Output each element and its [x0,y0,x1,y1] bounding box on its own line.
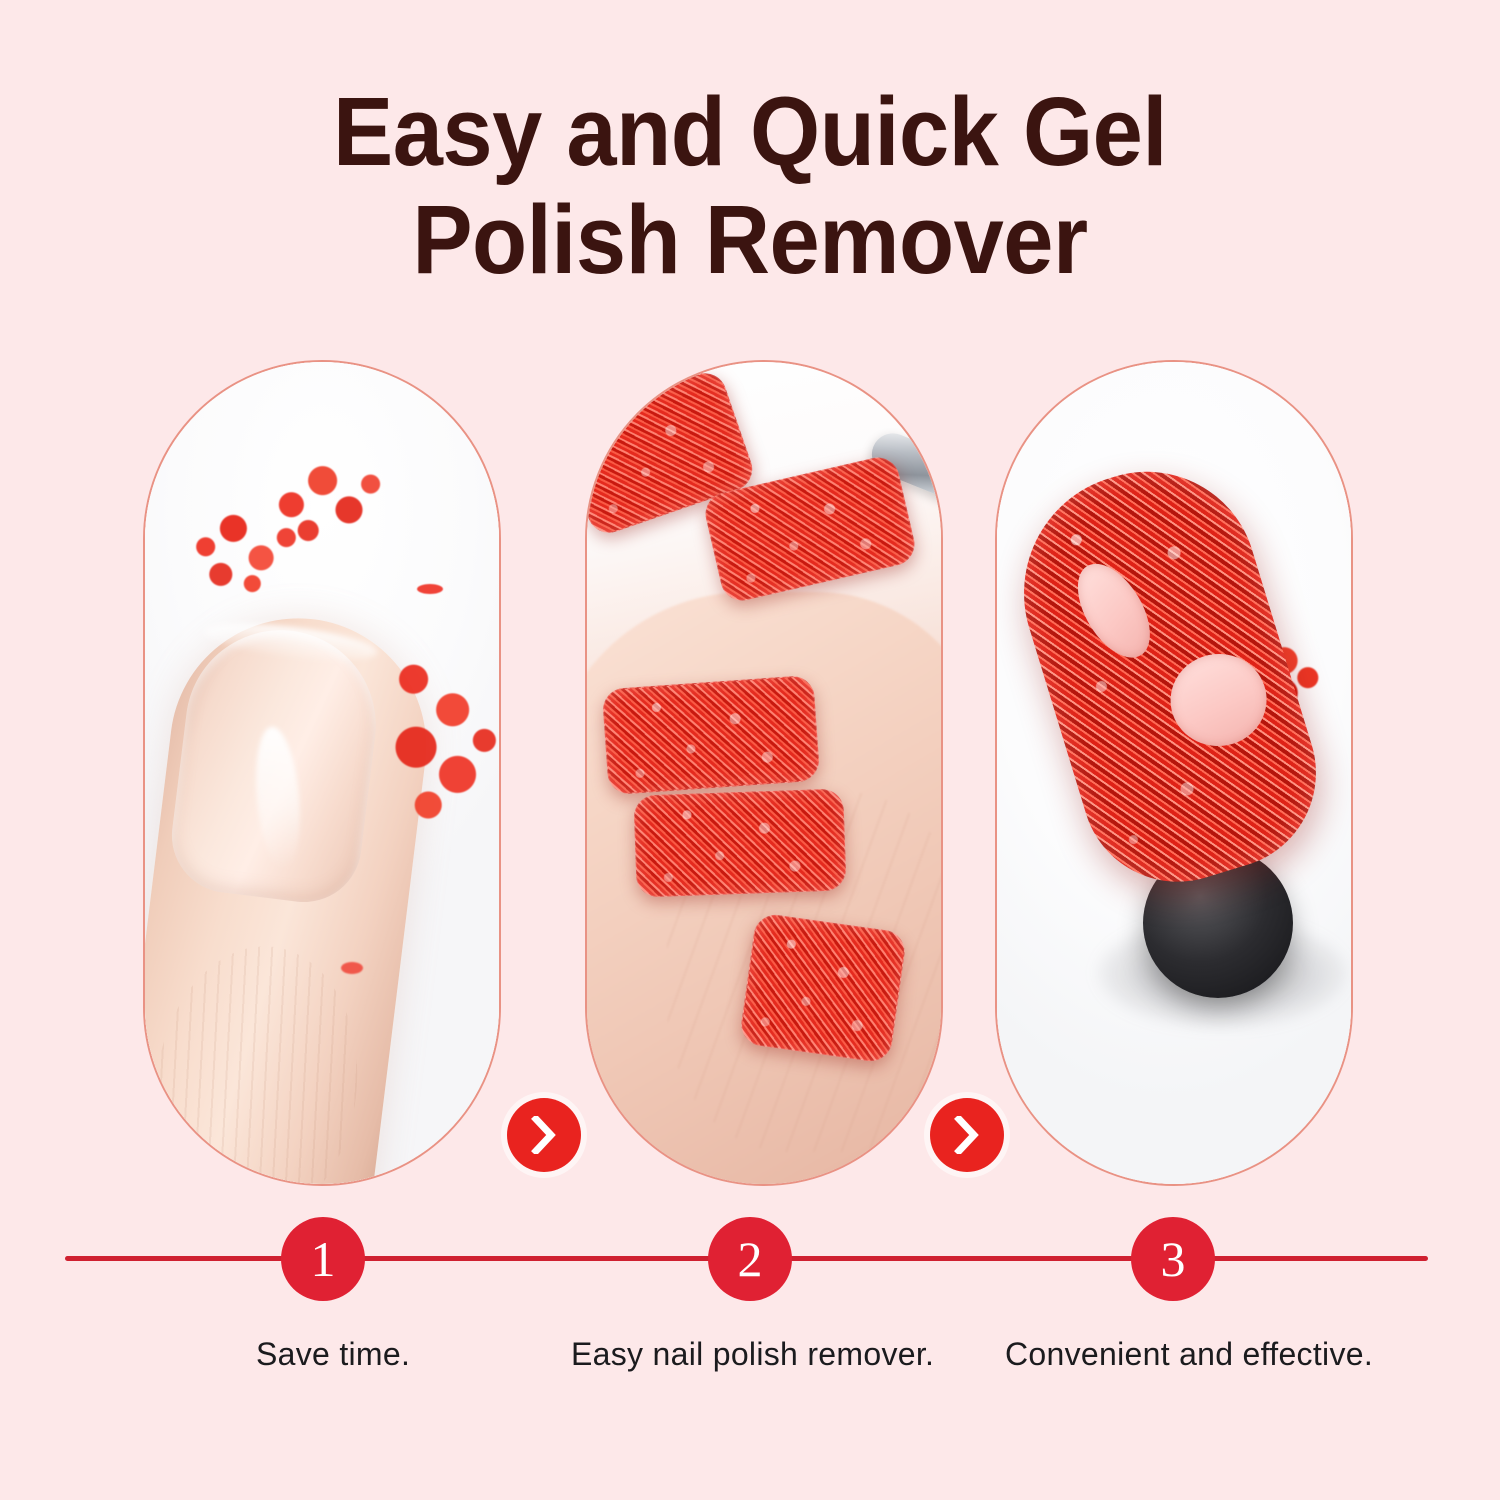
step-image-row [0,360,1500,1188]
step-number-label: 1 [311,1234,336,1284]
step-number-label: 2 [738,1234,763,1284]
hand-with-peeling-red-gel-nails-image [587,362,941,1184]
step-number-badge-2: 2 [708,1217,792,1301]
step-image-panel-3 [995,360,1353,1186]
step-number-label: 3 [1161,1234,1186,1284]
gel-covered-nail [602,675,821,796]
step-number-badge-1: 1 [281,1217,365,1301]
gel-flake-cluster-top [265,460,385,546]
gel-flake-speck-lower [341,962,363,974]
fingertip-with-red-gel-flakes-image [145,362,499,1184]
gel-flake-cluster-right [377,652,499,822]
page-title-line-1: Easy and Quick Gel [53,78,1448,186]
gel-flake-speck [417,584,443,594]
gel-covered-nail [633,788,846,897]
page-title-line-2: Polish Remover [53,186,1448,294]
step-arrow-2 [930,1098,1004,1172]
step-caption-2: Easy nail polish remover. [571,1336,934,1373]
page-title: Easy and Quick Gel Polish Remover [0,78,1500,294]
step-image-panel-1 [143,360,501,1186]
step-number-badge-3: 3 [1131,1217,1215,1301]
chevron-right-icon [531,1116,557,1154]
peeled-gel-shell-on-black-base-image [997,362,1351,1184]
gel-covered-nail [739,912,908,1064]
step-caption-3: Convenient and effective. [1005,1336,1373,1373]
chevron-right-icon [954,1116,980,1154]
step-image-panel-2 [585,360,943,1186]
step-arrow-1 [507,1098,581,1172]
step-caption-1: Save time. [256,1336,410,1373]
